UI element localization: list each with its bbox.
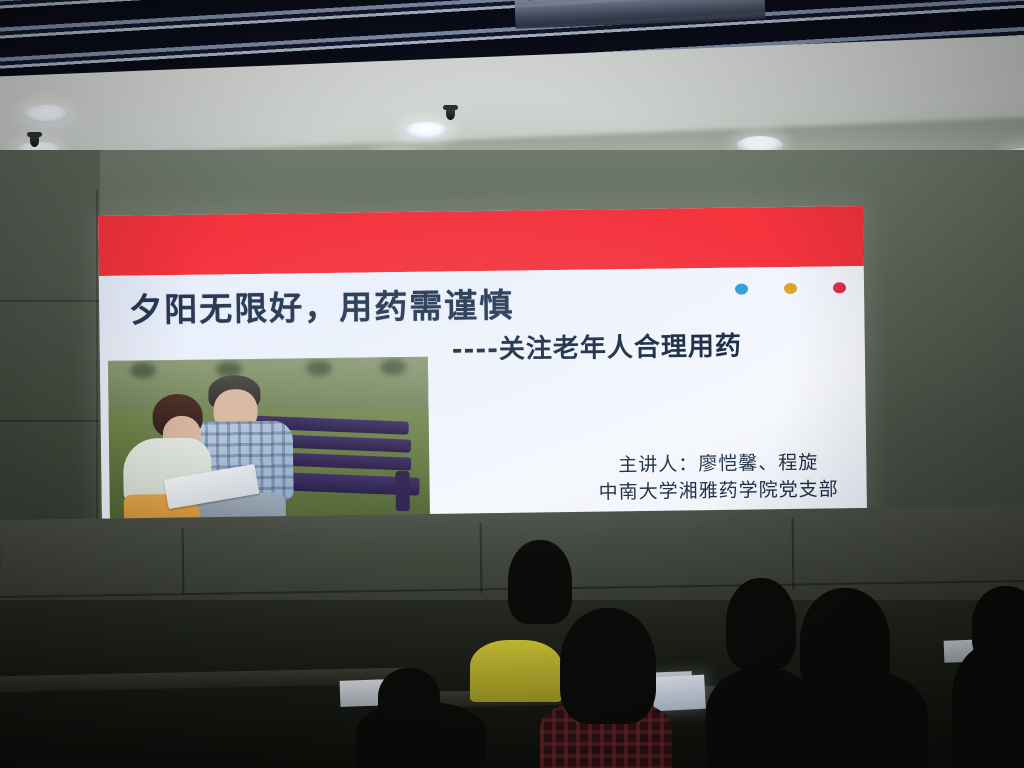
wall-panel-left: [0, 150, 100, 570]
audience-head: [560, 608, 656, 724]
audience-head: [972, 586, 1024, 664]
wall-seam: [0, 420, 100, 422]
slide-photo-elderly-couple: [108, 357, 430, 526]
lecture-hall-photo: 夕阳无限好，用药需谨慎 ----关注老年人合理用药: [0, 0, 1024, 768]
audience-head: [800, 588, 890, 698]
presenter-names: 主讲人：廖恺馨、程旋: [598, 449, 838, 480]
audience-head: [726, 578, 796, 670]
audience-head: [508, 540, 572, 624]
slide-presenter-block: 主讲人：廖恺馨、程旋 中南大学湘雅药学院党支部: [598, 449, 839, 507]
slide-accent-dots: [735, 282, 846, 294]
sprinkler-head-icon: [30, 135, 39, 147]
sprinkler-head-icon: [446, 108, 455, 120]
audience-head: [378, 668, 440, 728]
audience-person-yellow-top: [470, 640, 562, 702]
presenter-org: 中南大学湘雅药学院党支部: [598, 477, 838, 508]
ceiling-light: [22, 105, 70, 123]
ceiling-light: [403, 122, 449, 139]
slide-red-banner: [98, 206, 864, 276]
dot-red: [833, 282, 846, 293]
wall-seam: [0, 300, 100, 302]
dot-orange: [784, 283, 797, 294]
projection-screen: 夕阳无限好，用药需谨慎 ----关注老年人合理用药: [98, 206, 867, 528]
slide-subtitle: ----关注老年人合理用药: [452, 326, 743, 367]
slide-title: 夕阳无限好，用药需谨慎: [129, 279, 515, 332]
audience-laptop-screen: [652, 675, 706, 712]
dot-blue: [735, 283, 748, 294]
slide-body: 夕阳无限好，用药需谨慎 ----关注老年人合理用药: [99, 266, 867, 528]
slide: 夕阳无限好，用药需谨慎 ----关注老年人合理用药: [98, 206, 867, 528]
bench-leg: [395, 471, 410, 511]
